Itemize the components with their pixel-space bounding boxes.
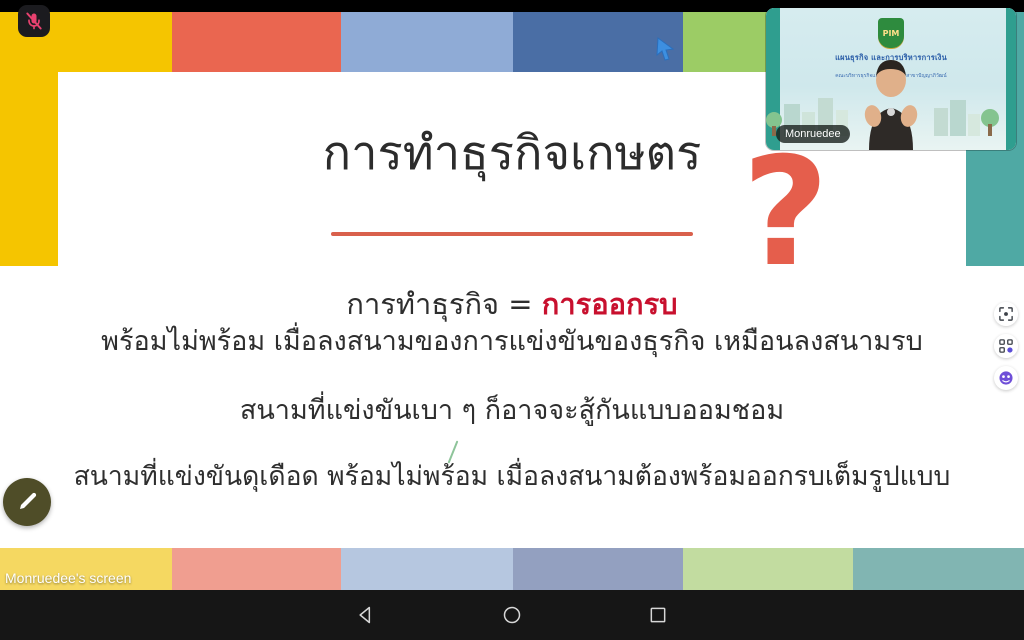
slide-body-line-2: พร้อมไม่พร้อม เมื่อลงสนามของการแข่งขันขอ… — [58, 323, 966, 361]
qr-code-icon[interactable] — [994, 334, 1018, 358]
side-control-stack — [994, 302, 1018, 390]
triangle-back-icon — [356, 605, 376, 625]
device-screen: การทำธุรกิจเกษตร การทำธุรกิจ = การออกรบ … — [0, 0, 1024, 640]
background-block-bottom-teal — [853, 548, 1024, 590]
participant-figure — [849, 54, 933, 150]
slide-body-line-1-emphasis: การออกรบ — [542, 287, 678, 321]
participant-video-tile[interactable]: PIM แผนธุรกิจ และการบริหารการเงิน ผศ.ดร.… — [766, 8, 1016, 150]
slide-body-line-3: สนามที่แข่งขันเบา ๆ ก็อาจจะสู้กันแบบออมช… — [58, 392, 966, 430]
circle-home-icon — [502, 605, 522, 625]
android-nav-bar — [0, 590, 1024, 640]
mic-off-icon[interactable] — [18, 5, 50, 37]
slide-body-line-1: การทำธุรกิจ = การออกรบ — [58, 284, 966, 325]
background-block-bottom-salmon — [172, 548, 341, 590]
pencil-icon — [15, 490, 39, 514]
home-button[interactable] — [499, 602, 525, 628]
scan-frame-icon[interactable] — [994, 302, 1018, 326]
square-recents-icon — [648, 605, 668, 625]
background-block-bottom-light-blue — [341, 548, 513, 590]
remote-pointer-icon — [655, 36, 677, 62]
background-block-bottom-blue — [513, 548, 683, 590]
participant-name-label: Monruedee — [776, 125, 850, 143]
question-mark-graphic: ? — [742, 138, 829, 288]
background-block-bottom-green — [683, 548, 853, 590]
back-button[interactable] — [353, 602, 379, 628]
annotate-pencil-button[interactable] — [3, 478, 51, 526]
slide-body: การทำธุรกิจ = การออกรบ พร้อมไม่พร้อม เมื… — [58, 284, 966, 495]
screen-share-label: Monruedee's screen — [5, 570, 131, 586]
slide-body-line-1-prefix: การทำธุรกิจ = — [346, 287, 541, 321]
recents-button[interactable] — [645, 602, 671, 628]
avatar-icon[interactable] — [994, 366, 1018, 390]
title-underline-rule — [331, 232, 693, 236]
pim-logo-icon: PIM — [878, 18, 904, 48]
slide-body-line-4: สนามที่แข่งขันดุเดือด พร้อมไม่พร้อม เมื่… — [58, 458, 966, 496]
